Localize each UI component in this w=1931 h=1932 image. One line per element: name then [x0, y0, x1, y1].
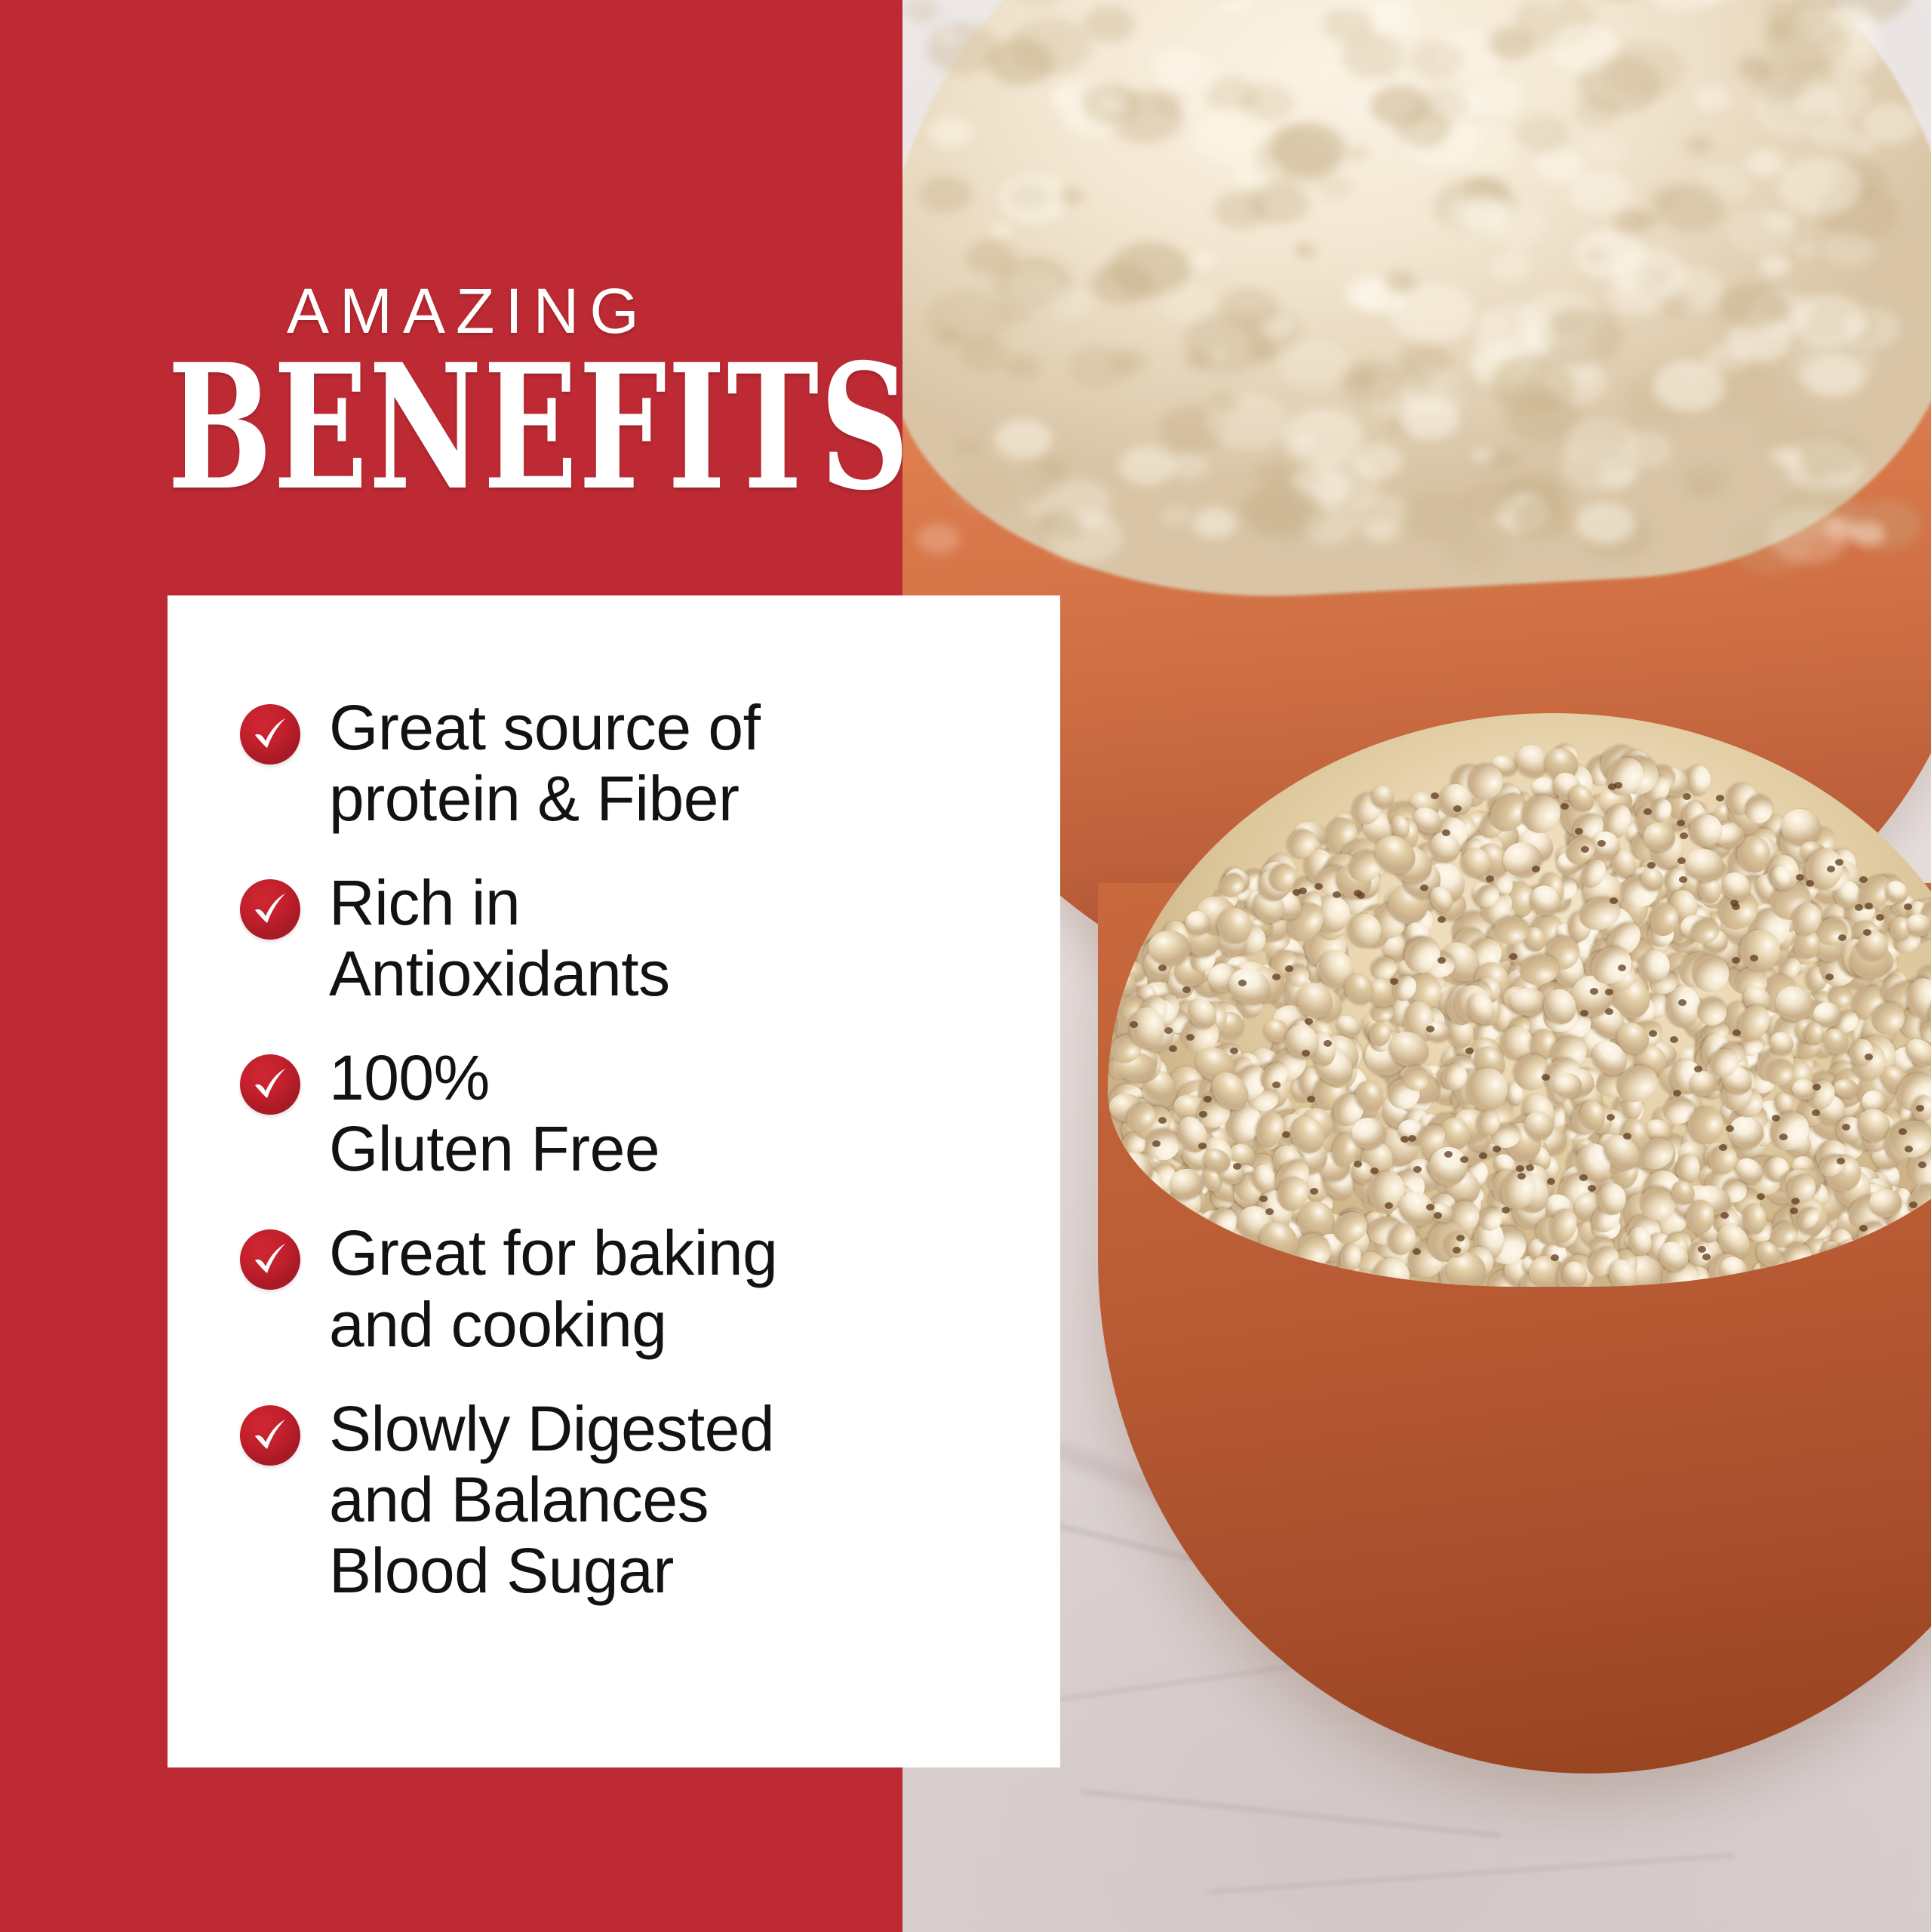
flour-texture — [1043, 460, 1065, 475]
flour-texture — [1850, 521, 1885, 546]
flour-texture — [917, 524, 960, 554]
flour-texture — [1091, 263, 1152, 305]
sorghum-grain-germ — [1579, 1174, 1588, 1181]
flour-texture — [1162, 506, 1190, 526]
flour-texture — [1084, 512, 1112, 532]
flour-texture — [1565, 419, 1638, 470]
flour-texture — [1005, 355, 1041, 380]
flour-texture — [1653, 361, 1725, 411]
flour-texture — [1398, 368, 1432, 392]
sorghum-grain-germ — [1233, 1163, 1241, 1170]
sorghum-grain-germ — [1607, 1114, 1615, 1121]
flour-texture — [1119, 446, 1175, 485]
sorghum-grain-germ — [1575, 828, 1583, 835]
sorghum-grain-germ — [1757, 1193, 1765, 1200]
sorghum-grain-germ — [1199, 1111, 1207, 1118]
flour-texture — [1824, 231, 1874, 266]
sorghum-grain-germ — [1164, 1027, 1173, 1034]
sorghum-grain-germ — [1272, 974, 1281, 980]
sorghum-grain-germ — [1238, 980, 1247, 986]
sorghum-grain-germ — [1204, 1096, 1212, 1103]
flour-texture — [1800, 432, 1864, 476]
sorghum-grain-germ — [1453, 1247, 1461, 1254]
flour-texture — [1536, 148, 1585, 183]
flour-texture — [1686, 136, 1713, 155]
flour-texture — [939, 30, 961, 45]
flour-texture — [1473, 452, 1499, 470]
page-title: AMAZING BENEFITS — [168, 279, 801, 509]
sorghum-grain-germ — [1733, 1029, 1741, 1036]
sorghum-grain — [1164, 1244, 1190, 1267]
flour-texture — [1283, 408, 1364, 465]
sorghum-grain-germ — [1152, 1140, 1161, 1147]
flour-texture — [1370, 85, 1429, 127]
sorghum-grain-germ — [1460, 1156, 1468, 1163]
sorghum-grain-germ — [1581, 846, 1589, 853]
sorghum-grain-germ — [1825, 974, 1834, 980]
sorghum-grain-germ — [1547, 1178, 1555, 1185]
flour-texture — [1247, 486, 1325, 540]
sorghum-grain-germ — [1431, 792, 1439, 799]
flour-texture — [1257, 460, 1293, 485]
sorghum-grain-germ — [1408, 1135, 1416, 1142]
flour-texture — [1683, 463, 1731, 496]
flour-texture — [1466, 77, 1524, 117]
sorghum-grain — [1739, 930, 1780, 972]
flour-texture — [1719, 283, 1786, 330]
benefit-label: 100% Gluten Free — [329, 1042, 660, 1184]
flour-texture — [1154, 47, 1201, 80]
flour-texture — [928, 117, 973, 148]
sorghum-grain-germ — [1904, 903, 1912, 910]
flour-texture — [1848, 134, 1878, 155]
flour-texture — [1490, 355, 1576, 414]
sorghum-grain-germ — [1302, 1050, 1310, 1057]
marble-vein — [1208, 1854, 1736, 1894]
flour-texture — [1576, 503, 1635, 544]
flour-texture — [990, 223, 1013, 238]
sorghum-grain-germ — [1293, 889, 1301, 896]
flour-texture — [1352, 444, 1403, 479]
flour-texture — [1048, 287, 1095, 320]
sorghum-grain-germ — [1265, 1208, 1274, 1215]
flour-texture — [1778, 158, 1861, 216]
sorghum-grain-germ — [1198, 1143, 1207, 1149]
sorghum-grain-germ — [1307, 1096, 1315, 1103]
flour-texture — [1241, 84, 1295, 122]
sorghum-grain — [1148, 930, 1191, 965]
flour-texture — [1409, 41, 1464, 79]
flour-texture — [1656, 183, 1724, 232]
flour-texture — [1794, 241, 1818, 258]
sorghum-grain-germ — [1680, 832, 1688, 839]
flour-texture — [1401, 398, 1459, 439]
flour-texture — [1385, 271, 1416, 293]
sorghum-grain-germ — [1285, 965, 1293, 972]
sorghum-grain-germ — [1610, 897, 1618, 904]
flour-texture — [1474, 304, 1555, 361]
flour-texture — [1351, 370, 1376, 388]
flour-texture — [1444, 527, 1505, 570]
flour-texture — [1346, 146, 1369, 162]
flour-texture — [905, 0, 940, 23]
flour-texture — [1490, 252, 1532, 281]
sorghum-grain-germ — [1726, 1125, 1734, 1132]
sorghum-grain-germ — [1130, 1021, 1138, 1028]
sorghum-grain-germ — [1453, 805, 1462, 812]
sorghum-grain-germ — [1324, 1040, 1332, 1047]
sorghum-grain-germ — [1532, 866, 1540, 872]
flour-texture — [1024, 501, 1047, 518]
benefits-list: Great source of protein & FiberRich in A… — [168, 595, 1060, 1606]
sorghum-grain-germ — [1677, 820, 1685, 826]
benefit-label: Slowly Digested and Balances Blood Sugar — [329, 1393, 774, 1606]
sorghum-grain-germ — [1370, 1168, 1379, 1174]
flour-texture — [959, 337, 1009, 372]
check-circle-icon — [240, 1405, 300, 1466]
flour-texture — [952, 468, 1018, 514]
flour-texture — [1158, 284, 1215, 323]
sorghum-grain-germ — [1167, 1221, 1176, 1228]
flour-texture — [1213, 192, 1267, 229]
sorghum-grain-germ — [1779, 1134, 1788, 1140]
flour-texture — [1295, 433, 1318, 449]
sorghum-grain-germ — [1465, 1048, 1474, 1054]
flour-texture — [1459, 199, 1508, 233]
flour-texture — [966, 240, 1016, 275]
sorghum-grain-germ — [1679, 876, 1687, 883]
check-circle-icon — [240, 704, 300, 764]
benefits-card: Great source of protein & FiberRich in A… — [168, 595, 1060, 1767]
flour-texture — [1513, 497, 1573, 540]
benefits-poster: AMAZING BENEFITS Great source of protein… — [0, 0, 1931, 1932]
sorghum-grain-germ — [1560, 803, 1569, 810]
benefit-label: Rich in Antioxidants — [329, 867, 670, 1009]
flour-texture — [1185, 349, 1213, 369]
flour-texture — [1294, 243, 1316, 258]
sorghum-grain-germ — [1169, 1045, 1177, 1052]
sorghum-grain-germ — [1502, 1207, 1510, 1214]
sorghum-grain-germ — [1899, 1128, 1907, 1135]
flour-texture — [1615, 211, 1649, 234]
sorghum-grain-germ — [1618, 964, 1626, 971]
sorghum-grain-germ — [1677, 857, 1686, 864]
sorghum-grain-germ — [1838, 934, 1846, 941]
sorghum-grain-germ — [1806, 880, 1814, 887]
sorghum-grain-germ — [1186, 1034, 1195, 1041]
sorghum-grain-germ — [1401, 1136, 1409, 1143]
flour-texture — [1059, 187, 1084, 205]
benefit-item: Rich in Antioxidants — [168, 867, 1060, 1009]
flour-texture — [1084, 6, 1135, 42]
sorghum-grain — [1869, 1188, 1902, 1217]
check-circle-icon — [240, 1054, 300, 1115]
sorghum-grain-germ — [1413, 1248, 1421, 1255]
flour-texture — [1584, 137, 1626, 166]
sorghum-grain-germ — [1876, 914, 1884, 921]
sorghum-grain — [1597, 1183, 1627, 1215]
flour-texture — [1693, 85, 1731, 112]
flour-texture — [1768, 507, 1849, 564]
flour-texture — [919, 176, 972, 213]
flour-texture — [1046, 514, 1084, 540]
sorghum-grain-germ — [1605, 989, 1613, 995]
flour-texture — [1103, 96, 1130, 114]
sorghum-grain-germ — [1230, 1048, 1238, 1054]
flour-texture — [1661, 294, 1692, 316]
sorghum-grain-germ — [1588, 1185, 1596, 1192]
flour-texture — [1462, 479, 1516, 518]
sorghum-grain-germ — [1479, 1152, 1487, 1159]
sorghum-grain-germ — [1730, 900, 1739, 906]
flour-texture — [995, 419, 1052, 459]
flour-texture — [1179, 97, 1206, 115]
sorghum-grain-germ — [1901, 1256, 1909, 1263]
flour-texture — [1764, 211, 1796, 233]
sorghum-grain-germ — [1732, 957, 1740, 964]
flour-texture — [1296, 469, 1320, 485]
flour-texture — [1516, 115, 1570, 152]
sorghum-grain-germ — [1683, 793, 1691, 800]
sorghum-grain-germ — [1670, 1036, 1678, 1043]
sorghum-grain-germ — [1909, 1201, 1917, 1208]
benefit-label: Great for baking and cooking — [329, 1217, 777, 1359]
benefit-item: 100% Gluten Free — [168, 1042, 1060, 1184]
flour-texture — [987, 38, 1054, 85]
flour-texture — [1323, 8, 1373, 43]
flour-texture — [955, 438, 981, 456]
flour-texture — [1193, 253, 1216, 269]
flour-texture — [1209, 392, 1239, 414]
check-circle-icon — [240, 879, 300, 940]
sorghum-grain-germ — [1918, 1161, 1926, 1168]
sorghum-grain-germ — [1437, 916, 1446, 923]
sorghum-grain-germ — [1750, 955, 1758, 961]
sorghum-grain-germ — [1623, 1133, 1631, 1140]
sorghum-grain-germ — [1716, 795, 1724, 801]
sorghum-grain-germ — [1905, 1146, 1913, 1152]
benefit-label: Great source of protein & Fiber — [329, 692, 760, 834]
flour-texture — [1009, 182, 1049, 210]
flour-texture — [1583, 248, 1607, 264]
sorghum-grain-germ — [1865, 1054, 1873, 1060]
sorghum-grain-germ — [1517, 1173, 1526, 1180]
sorghum-grain-germ — [1182, 986, 1191, 993]
flour-texture — [1219, 288, 1278, 329]
sorghum-grain-germ — [1597, 840, 1606, 847]
flour-texture — [1745, 149, 1785, 177]
sorghum-grain-germ — [1678, 999, 1687, 1006]
marble-vein — [1080, 1789, 1501, 1838]
sorghum-grain-germ — [1791, 1198, 1800, 1204]
flour-texture — [1754, 62, 1808, 100]
sorghum-grain-germ — [1259, 1195, 1268, 1202]
sorghum-grain-germ — [1694, 1066, 1702, 1072]
benefit-item: Slowly Digested and Balances Blood Sugar — [168, 1393, 1060, 1606]
flour-texture — [1112, 350, 1146, 374]
flour-texture — [1447, 378, 1472, 396]
flour-texture — [1442, 122, 1519, 175]
sorghum-grain-germ — [1158, 964, 1167, 971]
sorghum-grain-germ — [1580, 1010, 1588, 1017]
sorghum-grain-germ — [1158, 1117, 1167, 1124]
flour-texture — [1193, 508, 1236, 538]
sorghum-grain-germ — [1442, 829, 1450, 836]
flour-texture — [1052, 88, 1077, 105]
sorghum-grain-germ — [1859, 1225, 1868, 1232]
sorghum-grain-germ — [1855, 904, 1863, 911]
sorghum-grain-germ — [1605, 1008, 1613, 1015]
sorghum-grain-germ — [1516, 1165, 1524, 1172]
sorghum-grain-germ — [1551, 1254, 1559, 1261]
sorghum-grain-germ — [1614, 782, 1622, 789]
flour-texture — [936, 328, 960, 344]
check-circle-icon — [240, 1229, 300, 1290]
sorghum-grain-germ — [1434, 1212, 1442, 1219]
benefit-item: Great for baking and cooking — [168, 1217, 1060, 1359]
sorghum-grain-germ — [1859, 876, 1868, 883]
benefit-item: Great source of protein & Fiber — [168, 692, 1060, 834]
sorghum-grain-germ — [1842, 1124, 1850, 1131]
flour-texture — [1254, 129, 1335, 186]
sorghum-grain-germ — [1644, 808, 1652, 815]
title-headline: BENEFITS — [168, 346, 624, 509]
flour-texture — [1549, 23, 1619, 72]
flour-texture — [1759, 255, 1790, 277]
